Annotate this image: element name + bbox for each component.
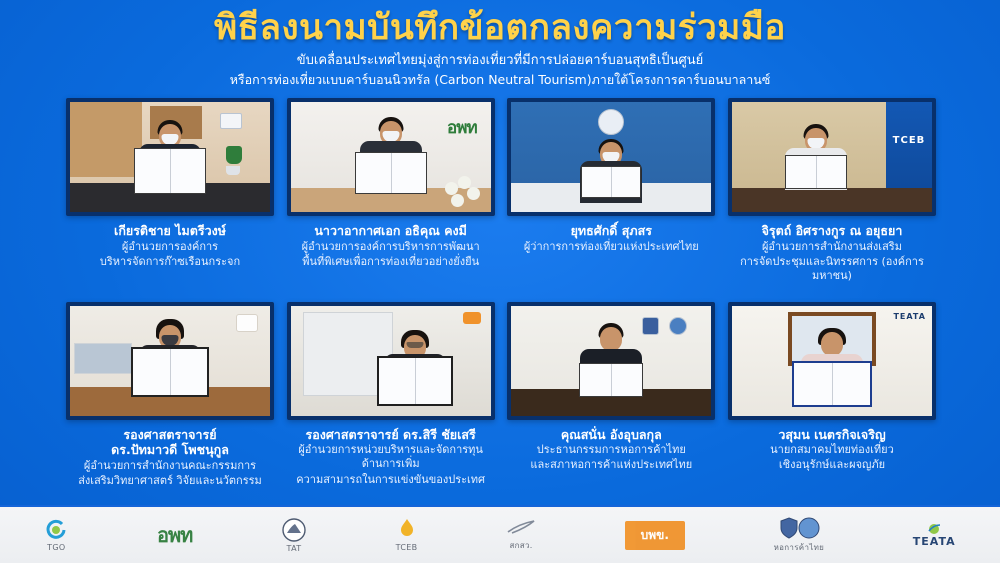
participant-role-line-1: ผู้อำนวยการองค์การ	[68, 240, 272, 254]
video-tile-8[interactable]: TEATA	[728, 302, 936, 420]
signed-document-5	[131, 347, 209, 397]
eyeglasses-icon	[406, 342, 423, 348]
thaichamber-seals-icon	[777, 516, 821, 540]
tgo-logo: TGO	[44, 515, 68, 555]
teata-mark-icon	[925, 523, 943, 535]
participant-role-line-1: ประธานกรรมการหอการค้าไทย	[509, 443, 713, 457]
tceb-logo: TCEB	[396, 515, 418, 555]
participant-row-2: รองศาสตราจารย์ ดร.ปัทมาวดี โพชนุกูล ผู้อ…	[66, 302, 936, 489]
participant-role-line-2: การจัดประชุมและนิทรรศการ (องค์การมหาชน)	[730, 255, 934, 284]
pmuc-logo-label: บพข.	[625, 521, 685, 550]
participant-name-line-2: ดร.ปัทมาวดี โพชนุกูล	[68, 442, 272, 458]
video-feed-4: TCEB	[732, 102, 932, 212]
participant-cell-5[interactable]: รองศาสตราจารย์ ดร.ปัทมาวดี โพชนุกูล ผู้อ…	[66, 302, 274, 489]
participant-caption-7: คุณสนั่น อังอุบลกุล ประธานกรรมการหอการค้…	[507, 427, 715, 473]
participant-role-line-1: ผู้อำนวยการองค์การบริหารการพัฒนา	[289, 240, 493, 254]
participant-role-line-1: ผู้อำนวยการหน่วยบริหารและจัดการทุนด้านกา…	[289, 443, 493, 472]
participant-cell-1[interactable]: เกียรติชาย ไมตรีวงษ์ ผู้อำนวยการองค์การ …	[66, 98, 274, 284]
signed-document-1	[134, 148, 206, 194]
tgo-logo-icon	[44, 518, 68, 542]
video-tile-2[interactable]: อพท	[287, 98, 495, 216]
participant-name: คุณสนั่น อังอุบลกุล	[509, 427, 713, 443]
tceb-flame-icon	[399, 518, 415, 542]
video-tile-5[interactable]	[66, 302, 274, 420]
participant-role-line-1: ผู้อำนวยการสำนักงานคณะกรรมการ	[68, 459, 272, 473]
tat-logo: TAT	[281, 515, 307, 555]
thaichamber-logo-label: หอการค้าไทย	[774, 541, 825, 554]
teata-logo: TEATA	[913, 515, 956, 555]
video-tile-1[interactable]	[66, 98, 274, 216]
participant-cell-4[interactable]: TCEB จิรุตถ์ อิศรางกูร ณ อยุธยา	[728, 98, 936, 284]
participant-role-line-1: นายกสมาคมไทยท่องเที่ยว	[730, 443, 934, 457]
signed-document-2	[355, 152, 427, 194]
video-feed-3	[511, 102, 711, 212]
bookshelf	[74, 343, 132, 374]
participant-caption-6: รองศาสตราจารย์ ดร.สิรี ชัยเสรี ผู้อำนวยก…	[287, 427, 495, 488]
tat-logo-icon	[281, 517, 307, 543]
signed-document-3	[581, 166, 641, 198]
participant-role-line-2: บริหารจัดการก๊าซเรือนกระจก	[68, 255, 272, 269]
participant-name: รองศาสตราจารย์	[68, 427, 272, 443]
participant-grid: เกียรติชาย ไมตรีวงษ์ ผู้อำนวยการองค์การ …	[66, 98, 936, 488]
dasta-logo: อพท	[157, 515, 192, 555]
participant-role-line-1: ผู้ว่าการการท่องเที่ยวแห่งประเทศไทย	[509, 240, 713, 254]
tceb-overlay-logo: TCEB	[886, 135, 932, 146]
video-tile-7[interactable]	[507, 302, 715, 420]
dasta-logo-label: อพท	[157, 519, 192, 551]
participant-name: ยุทธศักดิ์ สุภสร	[509, 223, 713, 239]
participant-role-line-2: เชิงอนุรักษ์และผจญภัย	[730, 458, 934, 472]
video-feed-1	[70, 102, 270, 212]
flower-bouquet	[443, 176, 485, 210]
dasta-overlay-logo: อพท	[447, 114, 477, 141]
partner-logo-bar: TGO อพท TAT TCEB สกสว. บพข.	[0, 505, 1000, 563]
participant-role-line-2: และสภาหอการค้าแห่งประเทศไทย	[509, 458, 713, 472]
video-tile-6[interactable]	[287, 302, 495, 420]
tsri-logo-label: สกสว.	[509, 539, 532, 552]
signed-document-8	[792, 361, 872, 407]
video-feed-6	[291, 306, 491, 416]
participant-row-1: เกียรติชาย ไมตรีวงษ์ ผู้อำนวยการองค์การ …	[66, 98, 936, 284]
video-feed-7	[511, 306, 711, 416]
tsri-logo: สกสว.	[506, 515, 536, 555]
teata-logo-label: TEATA	[913, 535, 956, 548]
participant-caption-3: ยุทธศักดิ์ สุภสร ผู้ว่าการการท่องเที่ยวแ…	[507, 223, 715, 254]
signed-document-6	[377, 356, 453, 406]
tgo-logo-label: TGO	[47, 543, 65, 552]
participant-cell-7[interactable]: คุณสนั่น อังอุบลกุล ประธานกรรมการหอการค้…	[507, 302, 715, 489]
participant-caption-8: วสุมน เนตรกิจเจริญ นายกสมาคมไทยท่องเที่ย…	[728, 427, 936, 473]
video-tile-4[interactable]: TCEB	[728, 98, 936, 216]
tsri-logo-icon	[506, 518, 536, 538]
pmuc-logo: บพข.	[625, 515, 685, 555]
tat-emblem-icon	[598, 109, 624, 135]
participant-name: นาวาอากาศเอก อธิคุณ คงมี	[289, 223, 493, 239]
subtitle-line-2: หรือการท่องเที่ยวแบบคาร์บอนนิวทรัล (Carb…	[0, 72, 1000, 89]
participant-cell-3[interactable]: ยุทธศักดิ์ สุภสร ผู้ว่าการการท่องเที่ยวแ…	[507, 98, 715, 284]
video-tile-3[interactable]	[507, 98, 715, 216]
tat-logo-label: TAT	[287, 544, 302, 553]
signed-document-4	[785, 155, 847, 189]
video-feed-2: อพท	[291, 102, 491, 212]
participant-name: วสุมน เนตรกิจเจริญ	[730, 427, 934, 443]
participant-role-line-2: ความสามารถในการแข่งขันของประเทศ	[289, 473, 493, 487]
signed-document-7	[579, 363, 643, 397]
page-title: พิธีลงนามบันทึกข้อตกลงความร่วมมือ	[0, 8, 1000, 48]
teata-overlay-logo: TEATA	[893, 312, 926, 321]
chamber-seal-icon-2	[669, 317, 687, 335]
participant-name: เกียรติชาย ไมตรีวงษ์	[68, 223, 272, 239]
participant-name: รองศาสตราจารย์ ดร.สิรี ชัยเสรี	[289, 427, 493, 443]
org-logo-overlay	[463, 312, 481, 324]
participant-caption-5: รองศาสตราจารย์ ดร.ปัทมาวดี โพชนุกูล ผู้อ…	[66, 427, 274, 489]
participant-role-line-2: พื้นที่พิเศษเพื่อการท่องเที่ยวอย่างยั่งย…	[289, 255, 493, 269]
participant-cell-6[interactable]: รองศาสตราจารย์ ดร.สิรี ชัยเสรี ผู้อำนวยก…	[287, 302, 495, 489]
participant-cell-8[interactable]: TEATA วสุมน เนตรกิจเจริญ นายกสมาคมไทยท่อ…	[728, 302, 936, 489]
subtitle-line-1: ขับเคลื่อนประเทศไทยมุ่งสู่การท่องเที่ยวท…	[0, 52, 1000, 70]
org-logo-overlay	[236, 314, 258, 332]
tceb-logo-label: TCEB	[396, 543, 418, 552]
video-feed-5	[70, 306, 270, 416]
participant-role-line-2: ส่งเสริมวิทยาศาสตร์ วิจัยและนวัตกรรม	[68, 474, 272, 488]
participant-role-line-1: ผู้อำนวยการสำนักงานส่งเสริม	[730, 240, 934, 254]
participant-cell-2[interactable]: อพท	[287, 98, 495, 284]
participant-caption-1: เกียรติชาย ไมตรีวงษ์ ผู้อำนวยการองค์การ …	[66, 223, 274, 269]
slide-header: พิธีลงนามบันทึกข้อตกลงความร่วมมือ ขับเคล…	[0, 8, 1000, 89]
wall-emblem-icon	[220, 113, 242, 129]
participant-name: จิรุตถ์ อิศรางกูร ณ อยุธยา	[730, 223, 934, 239]
participant-caption-4: จิรุตถ์ อิศรางกูร ณ อยุธยา ผู้อำนวยการสำ…	[728, 223, 936, 284]
participant-caption-2: นาวาอากาศเอก อธิคุณ คงมี ผู้อำนวยการองค์…	[287, 223, 495, 269]
video-feed-8: TEATA	[732, 306, 932, 416]
thaichamber-logo: หอการค้าไทย	[774, 515, 825, 555]
presentation-slide: พิธีลงนามบันทึกข้อตกลงความร่วมมือ ขับเคล…	[0, 0, 1000, 563]
